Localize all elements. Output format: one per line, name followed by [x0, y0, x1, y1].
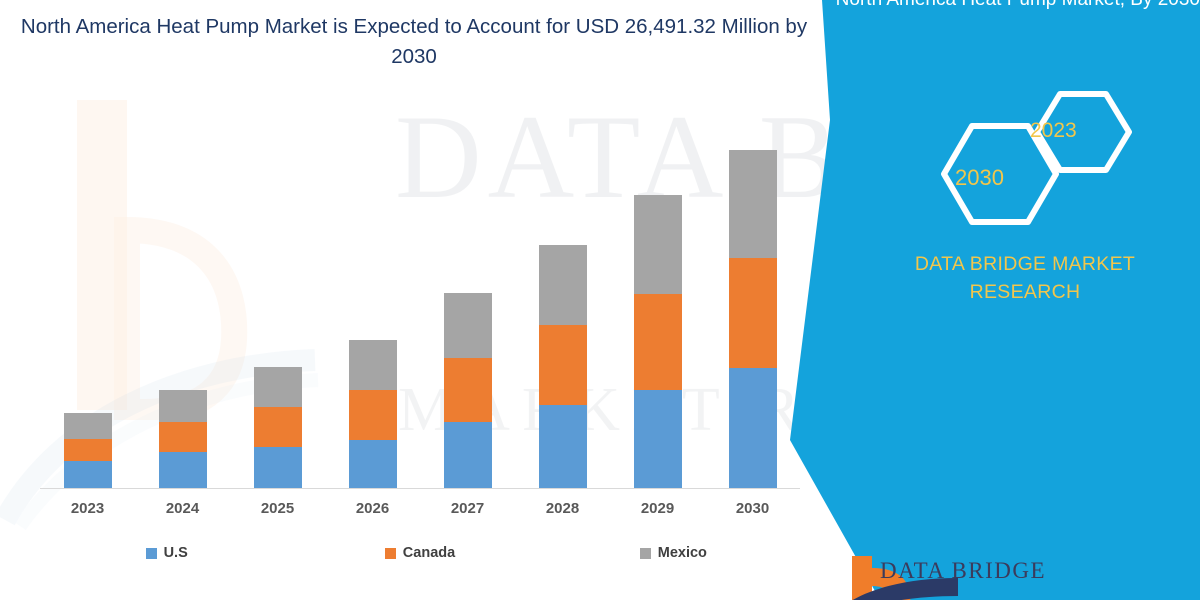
x-axis-labels: 20232024202520262027202820292030 [40, 496, 800, 526]
hexagon-badges [910, 88, 1140, 228]
bar-segment-mexico[interactable] [349, 340, 397, 390]
bar-segment-mexico[interactable] [254, 367, 302, 407]
bar-segment-canada[interactable] [254, 407, 302, 447]
bar-segment-canada[interactable] [64, 439, 112, 461]
bar-slot [325, 110, 420, 488]
stacked-bar[interactable] [444, 293, 492, 488]
legend-swatch [640, 548, 651, 559]
stacked-bar[interactable] [349, 340, 397, 488]
brand-panel-content: North America Heat Pump Market, By 2030 … [850, 0, 1200, 600]
logo-wordmark: DATA BRIDGE [880, 558, 1046, 584]
stacked-bar[interactable] [634, 195, 682, 488]
legend-item[interactable]: Canada [293, 545, 546, 561]
bar-slot [135, 110, 230, 488]
bar-segment-canada[interactable] [729, 258, 777, 368]
legend-label: U.S [164, 545, 188, 561]
bar-segment-us[interactable] [254, 447, 302, 488]
bar-segment-mexico[interactable] [444, 293, 492, 358]
bar-segment-canada[interactable] [349, 390, 397, 440]
x-axis-label: 2028 [515, 496, 610, 526]
bar-group [40, 110, 800, 488]
bar-segment-us[interactable] [64, 461, 112, 488]
x-axis-label: 2030 [705, 496, 800, 526]
legend-label: Mexico [658, 545, 707, 561]
bar-segment-us[interactable] [539, 405, 587, 488]
infographic-root: DATA BRIDGE MARKET RESEARCH North Americ… [0, 0, 1200, 600]
bar-segment-us[interactable] [634, 390, 682, 488]
bar-slot [420, 110, 515, 488]
legend-swatch [385, 548, 396, 559]
x-axis-label: 2025 [230, 496, 325, 526]
bar-slot [40, 110, 135, 488]
chart-title: North America Heat Pump Market is Expect… [14, 12, 814, 72]
bar-segment-us[interactable] [729, 368, 777, 488]
bar-segment-canada[interactable] [539, 325, 587, 405]
x-axis-label: 2023 [40, 496, 135, 526]
hexagon-outline-group [910, 88, 1140, 228]
panel-heading: North America Heat Pump Market, By 2030 [830, 0, 1200, 14]
legend-item[interactable]: Mexico [547, 545, 800, 561]
legend-swatch [146, 548, 157, 559]
bar-segment-canada[interactable] [159, 422, 207, 452]
bar-segment-us[interactable] [444, 422, 492, 488]
bar-slot [610, 110, 705, 488]
bar-segment-mexico[interactable] [64, 413, 112, 439]
bar-segment-canada[interactable] [444, 358, 492, 422]
stacked-bar[interactable] [159, 390, 207, 488]
bar-slot [515, 110, 610, 488]
x-axis-label: 2027 [420, 496, 515, 526]
legend-label: Canada [403, 545, 455, 561]
stacked-bar[interactable] [254, 367, 302, 488]
bar-segment-mexico[interactable] [634, 195, 682, 294]
stacked-bar[interactable] [64, 413, 112, 488]
brand-name: DATA BRIDGE MARKET RESEARCH [850, 250, 1200, 306]
bar-segment-mexico[interactable] [729, 150, 777, 258]
axis-baseline [40, 488, 800, 489]
bar-segment-canada[interactable] [634, 294, 682, 390]
brand-line-2: RESEARCH [970, 281, 1081, 303]
bar-slot [705, 110, 800, 488]
x-axis-label: 2029 [610, 496, 705, 526]
x-axis-label: 2026 [325, 496, 420, 526]
bar-segment-mexico[interactable] [159, 390, 207, 422]
x-axis-label: 2024 [135, 496, 230, 526]
bar-segment-us[interactable] [159, 452, 207, 488]
legend-item[interactable]: U.S [40, 545, 293, 561]
bar-segment-us[interactable] [349, 440, 397, 488]
brand-line-1: DATA BRIDGE MARKET [915, 253, 1135, 275]
hexagon-2030-label: 2030 [955, 165, 1004, 191]
chart-panel: DATA BRIDGE MARKET RESEARCH North Americ… [0, 0, 830, 600]
hexagon-2023-label: 2023 [1030, 119, 1077, 143]
chart-legend: U.SCanadaMexico [40, 538, 800, 568]
stacked-bar[interactable] [539, 245, 587, 488]
bar-slot [230, 110, 325, 488]
stacked-bar[interactable] [729, 150, 777, 488]
bar-segment-mexico[interactable] [539, 245, 587, 325]
